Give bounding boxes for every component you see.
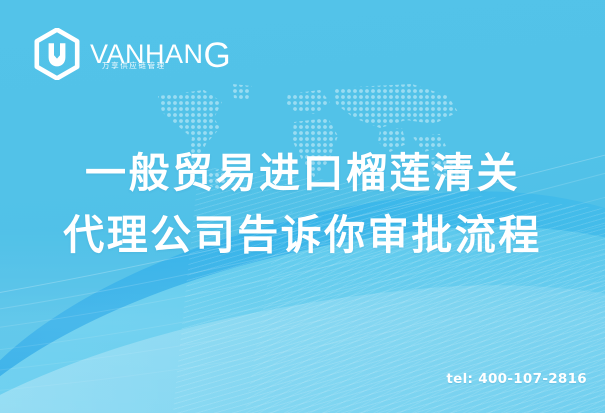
headline-line-1: 一般贸易进口榴莲清关 [0, 142, 605, 204]
promo-banner: VANHANG 万享供应链管理 一般贸易进口榴莲清关 代理公司告诉你审批流程 t… [0, 0, 605, 413]
headline: 一般贸易进口榴莲清关 代理公司告诉你审批流程 [0, 142, 605, 266]
brand-sub-text: 万享供应链管理 [102, 61, 166, 70]
contact-phone[interactable]: tel: 400-107-2816 [446, 371, 587, 387]
brand-wordmark-g: G [204, 36, 231, 75]
headline-line-2: 代理公司告诉你审批流程 [0, 204, 605, 266]
brand-wordmark-block: VANHANG 万享供应链管理 [90, 40, 231, 69]
brand-logo[interactable]: VANHANG 万享供应链管理 [33, 28, 231, 80]
vanhang-hexagon-u-logo-icon [33, 28, 81, 80]
